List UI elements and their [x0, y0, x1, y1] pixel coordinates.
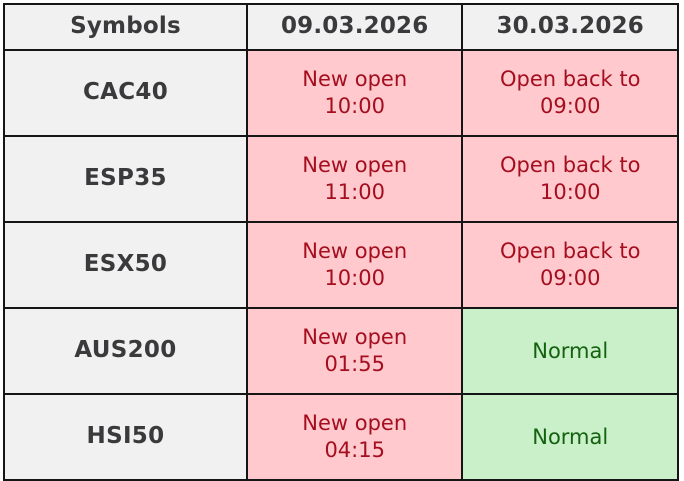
schedule-cell-line-1: Open back to: [463, 238, 677, 265]
table-row: HSI50 New open 04:15 Normal: [4, 394, 678, 480]
symbol-cell: HSI50: [4, 394, 247, 480]
symbol-cell: CAC40: [4, 50, 247, 136]
schedule-cell-line-1: New open: [248, 410, 462, 437]
schedule-cell-line-1: New open: [248, 152, 462, 179]
schedule-cell-line-2: 11:00: [248, 179, 462, 206]
schedule-cell-date-1: New open 10:00: [247, 222, 463, 308]
schedule-cell-line-2: 10:00: [463, 179, 677, 206]
schedule-cell-line-1: New open: [248, 66, 462, 93]
schedule-cell-line-2: 01:55: [248, 351, 462, 378]
table-body: CAC40 New open 10:00 Open back to 09:00 …: [4, 50, 678, 480]
schedule-cell-date-1: New open 01:55: [247, 308, 463, 394]
schedule-cell-line-1: New open: [248, 324, 462, 351]
schedule-cell-line-2: 09:00: [463, 93, 677, 120]
schedule-cell-date-1: New open 04:15: [247, 394, 463, 480]
schedule-cell-line-2: 09:00: [463, 265, 677, 292]
schedule-cell-date-1: New open 10:00: [247, 50, 463, 136]
schedule-cell-date-2: Open back to 09:00: [462, 50, 678, 136]
schedule-cell-date-2: Normal: [462, 394, 678, 480]
symbol-cell: ESX50: [4, 222, 247, 308]
schedule-cell-line-2: 10:00: [248, 265, 462, 292]
trading-hours-schedule-table: Symbols 09.03.2026 30.03.2026 CAC40 New …: [3, 3, 679, 481]
schedule-cell-line-2: 04:15: [248, 437, 462, 464]
table-row: AUS200 New open 01:55 Normal: [4, 308, 678, 394]
schedule-cell-date-1: New open 11:00: [247, 136, 463, 222]
schedule-cell-line-1: Open back to: [463, 66, 677, 93]
table-header-row: Symbols 09.03.2026 30.03.2026: [4, 4, 678, 50]
column-header-symbols: Symbols: [4, 4, 247, 50]
schedule-cell-line-2: 10:00: [248, 93, 462, 120]
symbol-cell: ESP35: [4, 136, 247, 222]
table-row: ESX50 New open 10:00 Open back to 09:00: [4, 222, 678, 308]
table-row: ESP35 New open 11:00 Open back to 10:00: [4, 136, 678, 222]
schedule-cell-line-1: New open: [248, 238, 462, 265]
symbol-cell: AUS200: [4, 308, 247, 394]
schedule-cell-date-2: Normal: [462, 308, 678, 394]
column-header-date-1: 09.03.2026: [247, 4, 463, 50]
column-header-date-2: 30.03.2026: [462, 4, 678, 50]
schedule-cell-date-2: Open back to 09:00: [462, 222, 678, 308]
schedule-cell-date-2: Open back to 10:00: [462, 136, 678, 222]
status-badge: Normal: [463, 424, 677, 451]
schedule-cell-line-1: Open back to: [463, 152, 677, 179]
status-badge: Normal: [463, 338, 677, 365]
table-row: CAC40 New open 10:00 Open back to 09:00: [4, 50, 678, 136]
